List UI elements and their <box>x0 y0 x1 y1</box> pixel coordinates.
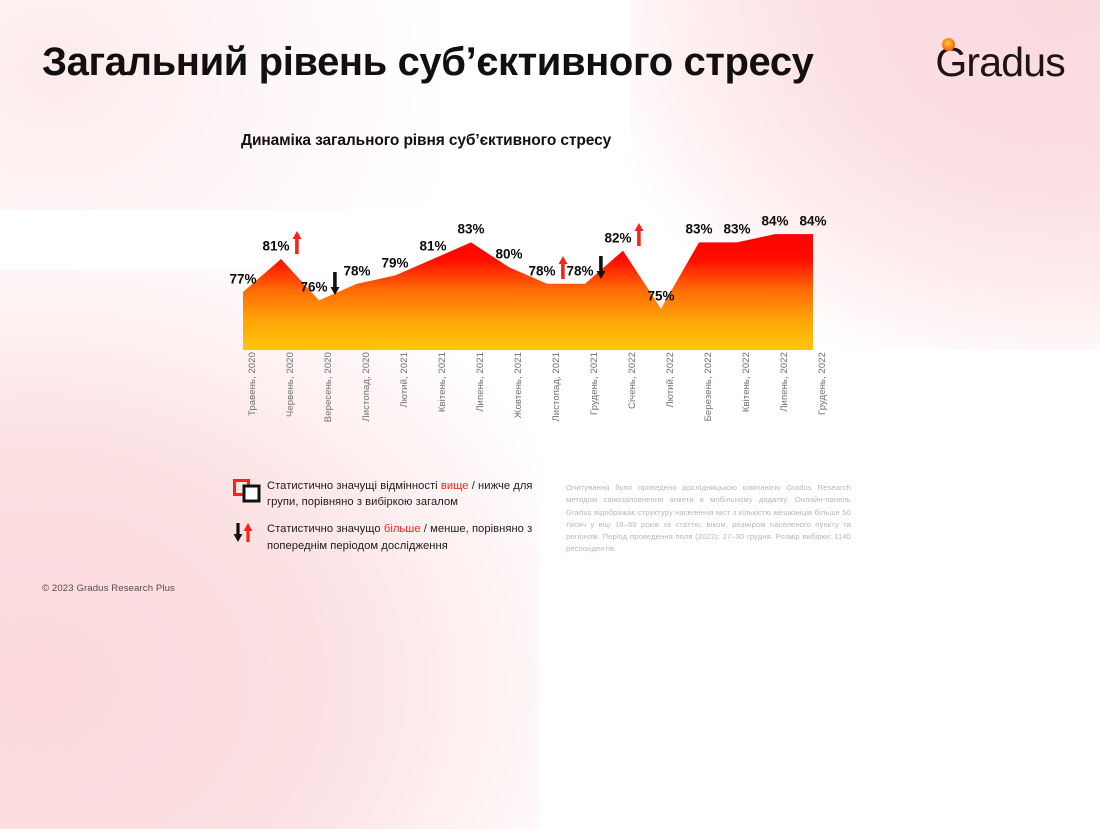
legend-item-period-difference: Статистично значущо більше / менше, порі… <box>233 521 543 553</box>
trend-up-arrow-icon <box>635 223 644 246</box>
x-axis-tick-label: Квітень, 2021 <box>437 352 448 412</box>
methodology-note: Опитування було проведено дослідницькою … <box>566 482 851 556</box>
data-point-label: 76% <box>300 281 327 295</box>
x-axis-tick-label: Листопад, 2020 <box>361 352 372 422</box>
chart-legend: Статистично значущі відмінності вище / н… <box>233 478 543 565</box>
data-point-label: 78% <box>528 264 555 278</box>
up-down-arrows-icon <box>233 521 267 549</box>
x-axis-tick-label: Лютий, 2021 <box>399 352 410 408</box>
data-point-label: 79% <box>381 256 408 270</box>
data-point-label: 75% <box>647 289 674 303</box>
x-axis-tick-label: Лютий, 2022 <box>665 352 676 408</box>
trend-up-arrow-icon <box>293 231 302 254</box>
x-axis-tick-label: Квітень, 2022 <box>741 352 752 412</box>
data-point-label: 80% <box>495 248 522 262</box>
legend-text-prefix-0: Статистично значущі відмінності <box>267 480 441 492</box>
legend-item-group-difference: Статистично значущі відмінності вище / н… <box>233 478 543 510</box>
data-point-label: 78% <box>566 264 593 278</box>
x-axis-tick-label: Жовтень, 2021 <box>513 352 524 418</box>
chart-block: Динаміка загального рівня суб’єктивного … <box>0 0 1100 619</box>
trend-down-arrow-icon <box>331 272 340 295</box>
x-axis-tick-label: Січень, 2022 <box>627 352 638 409</box>
x-axis-tick-label: Вересень, 2020 <box>323 352 334 422</box>
data-point-label: 84% <box>799 215 826 229</box>
legend-label-period-difference: Статистично значущо більше / менше, порі… <box>267 521 543 553</box>
chart-subtitle: Динаміка загального рівня суб’єктивного … <box>241 132 611 150</box>
legend-text-highlight-1: більше <box>384 523 421 535</box>
data-point-label: 83% <box>723 223 750 237</box>
x-axis-tick-label: Грудень, 2021 <box>589 352 600 415</box>
data-point-label: 82% <box>604 231 631 245</box>
x-axis-tick-label: Липень, 2022 <box>779 352 790 412</box>
data-point-label: 77% <box>229 273 256 287</box>
overlapping-squares-icon <box>233 478 267 508</box>
x-axis-tick-label: Травень, 2020 <box>247 352 258 416</box>
value-label-layer: 77%81%76%78%79%81%83%80%78%78%82%75%83%8… <box>243 185 813 350</box>
data-point-label: 84% <box>761 215 788 229</box>
footer-copyright: © 2023 Gradus Research Plus <box>42 583 175 594</box>
x-axis-labels: Травень, 2020Червень, 2020Вересень, 2020… <box>243 352 813 447</box>
x-axis-tick-label: Червень, 2020 <box>285 352 296 417</box>
data-point-label: 83% <box>685 223 712 237</box>
data-point-label: 81% <box>262 239 289 253</box>
trend-down-arrow-icon <box>597 256 606 279</box>
data-point-label: 81% <box>419 239 446 253</box>
legend-text-highlight-0: вище <box>441 480 469 492</box>
x-axis-tick-label: Липень, 2021 <box>475 352 486 412</box>
data-point-label: 83% <box>457 223 484 237</box>
x-axis-tick-label: Грудень, 2022 <box>817 352 828 415</box>
legend-text-prefix-1: Статистично значущо <box>267 523 384 535</box>
legend-label-group-difference: Статистично значущі відмінності вище / н… <box>267 478 543 510</box>
data-point-label: 78% <box>343 264 370 278</box>
x-axis-tick-label: Листопад, 2021 <box>551 352 562 422</box>
x-axis-tick-label: Березень, 2022 <box>703 352 714 421</box>
